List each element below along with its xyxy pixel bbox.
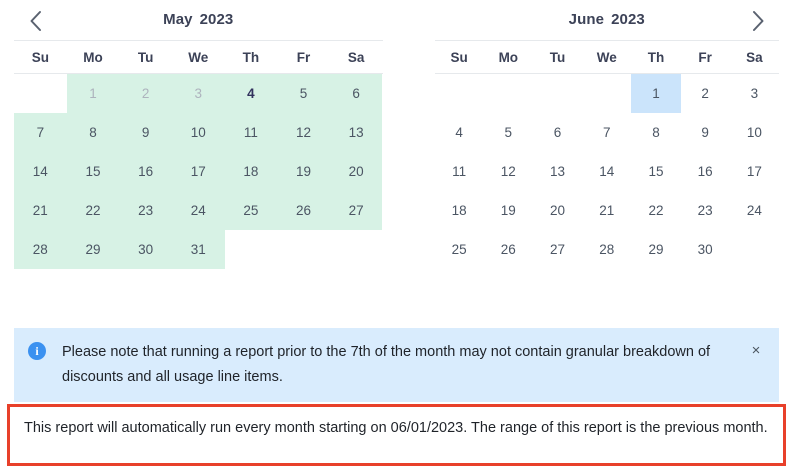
day-cell[interactable]: 22: [631, 191, 680, 230]
day-cell[interactable]: 6: [330, 74, 383, 113]
weekday-su: Su: [435, 41, 484, 73]
day-cell[interactable]: 2: [681, 74, 730, 113]
day-cell[interactable]: 7: [14, 113, 67, 152]
day-cell[interactable]: 17: [730, 152, 779, 191]
day-cell[interactable]: 23: [681, 191, 730, 230]
day-cell[interactable]: 25: [435, 230, 484, 269]
day-cell[interactable]: 12: [277, 113, 330, 152]
weekday-sa: Sa: [330, 41, 383, 73]
weekday-mo: Mo: [484, 41, 533, 73]
day-cell[interactable]: 28: [582, 230, 631, 269]
day-cell[interactable]: 25: [225, 191, 278, 230]
info-banner: i Please note that running a report prio…: [14, 328, 779, 402]
day-cell-empty: [533, 74, 582, 113]
day-cell[interactable]: 24: [172, 191, 225, 230]
weekday-th: Th: [225, 41, 278, 73]
day-cell-empty: [582, 74, 631, 113]
day-cell[interactable]: 8: [631, 113, 680, 152]
day-cell[interactable]: 28: [14, 230, 67, 269]
months-container: May2023 Su Mo Tu We Th Fr Sa 12345678910…: [0, 0, 793, 269]
month-title-left: May2023: [14, 0, 383, 40]
day-cell[interactable]: 26: [484, 230, 533, 269]
month-year-right: 2023: [611, 11, 645, 28]
info-banner-text: Please note that running a report prior …: [62, 340, 735, 390]
day-cell[interactable]: 5: [277, 74, 330, 113]
day-cell[interactable]: 20: [330, 152, 383, 191]
day-cell[interactable]: 27: [533, 230, 582, 269]
day-cell[interactable]: 11: [435, 152, 484, 191]
day-cell[interactable]: 13: [330, 113, 383, 152]
day-cell[interactable]: 20: [533, 191, 582, 230]
day-cell[interactable]: 14: [14, 152, 67, 191]
date-range-picker: May2023 Su Mo Tu We Th Fr Sa 12345678910…: [0, 0, 793, 312]
day-cell[interactable]: 30: [681, 230, 730, 269]
day-cell[interactable]: 4: [435, 113, 484, 152]
day-cell[interactable]: 3: [172, 74, 225, 113]
weekday-th: Th: [631, 41, 680, 73]
calendar-month-right: June2023 Su Mo Tu We Th Fr Sa 1234567891…: [397, 0, 793, 269]
day-cell[interactable]: 15: [631, 152, 680, 191]
day-cell[interactable]: 26: [277, 191, 330, 230]
day-cell[interactable]: 24: [730, 191, 779, 230]
day-cell[interactable]: 11: [225, 113, 278, 152]
day-cell[interactable]: 29: [631, 230, 680, 269]
day-cell[interactable]: 7: [582, 113, 631, 152]
day-cell[interactable]: 17: [172, 152, 225, 191]
day-cell[interactable]: 4: [225, 74, 278, 113]
day-cell[interactable]: 2: [119, 74, 172, 113]
day-cell[interactable]: 31: [172, 230, 225, 269]
month-name-right: June: [569, 11, 604, 28]
day-cell[interactable]: 16: [681, 152, 730, 191]
day-cell[interactable]: 30: [119, 230, 172, 269]
day-cell[interactable]: 15: [67, 152, 120, 191]
day-cell[interactable]: 13: [533, 152, 582, 191]
weekday-tu: Tu: [533, 41, 582, 73]
day-cell[interactable]: 10: [730, 113, 779, 152]
schedule-note: This report will automatically run every…: [7, 404, 786, 466]
day-cell[interactable]: 21: [14, 191, 67, 230]
day-cell[interactable]: 1: [631, 74, 680, 113]
weekday-su: Su: [14, 41, 67, 73]
day-cell[interactable]: 5: [484, 113, 533, 152]
day-cell[interactable]: 23: [119, 191, 172, 230]
day-grid-right: 1234567891011121314151617181920212223242…: [435, 74, 780, 269]
day-cell[interactable]: 6: [533, 113, 582, 152]
day-cell[interactable]: 29: [67, 230, 120, 269]
weekday-we: We: [172, 41, 225, 73]
day-cell[interactable]: 19: [277, 152, 330, 191]
day-cell[interactable]: 9: [119, 113, 172, 152]
month-title-right: June2023: [435, 0, 780, 40]
weekday-fr: Fr: [277, 41, 330, 73]
day-cell[interactable]: 14: [582, 152, 631, 191]
month-name-left: May: [163, 11, 192, 28]
weekday-header-left: Su Mo Tu We Th Fr Sa: [14, 40, 383, 74]
day-cell[interactable]: 8: [67, 113, 120, 152]
weekday-mo: Mo: [67, 41, 120, 73]
weekday-sa: Sa: [730, 41, 779, 73]
day-cell[interactable]: 12: [484, 152, 533, 191]
weekday-header-right: Su Mo Tu We Th Fr Sa: [435, 40, 780, 74]
weekday-fr: Fr: [681, 41, 730, 73]
close-icon[interactable]: ×: [747, 342, 765, 360]
calendar-month-left: May2023 Su Mo Tu We Th Fr Sa 12345678910…: [0, 0, 397, 269]
day-cell[interactable]: 10: [172, 113, 225, 152]
day-cell[interactable]: 3: [730, 74, 779, 113]
day-cell[interactable]: 21: [582, 191, 631, 230]
day-cell[interactable]: 9: [681, 113, 730, 152]
day-cell-empty: [14, 74, 67, 113]
day-cell[interactable]: 1: [67, 74, 120, 113]
month-year-left: 2023: [200, 11, 234, 28]
info-icon: i: [28, 342, 46, 360]
day-cell[interactable]: 22: [67, 191, 120, 230]
day-grid-left: 1234567891011121314151617181920212223242…: [14, 74, 383, 269]
day-cell-empty: [435, 74, 484, 113]
day-cell-empty: [484, 74, 533, 113]
day-cell[interactable]: 18: [225, 152, 278, 191]
day-cell[interactable]: 27: [330, 191, 383, 230]
day-cell[interactable]: 18: [435, 191, 484, 230]
day-cell[interactable]: 19: [484, 191, 533, 230]
weekday-tu: Tu: [119, 41, 172, 73]
schedule-note-text: This report will automatically run every…: [24, 420, 768, 436]
weekday-we: We: [582, 41, 631, 73]
day-cell[interactable]: 16: [119, 152, 172, 191]
